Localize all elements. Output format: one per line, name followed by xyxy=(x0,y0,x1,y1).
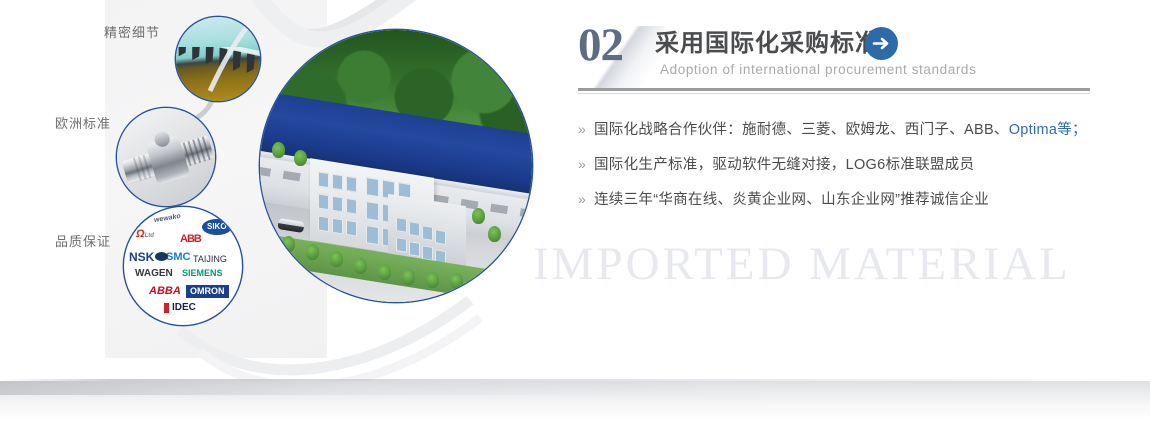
tree xyxy=(294,150,307,166)
section-subtitle: Adoption of international procurement st… xyxy=(660,62,976,77)
list-item: » 国际化战略合作伙伴：施耐德、三菱、欧姆龙、西门子、ABB、Optima等； xyxy=(578,118,1098,147)
watermark-text: IMPORTED MATERIAL xyxy=(533,237,1071,291)
tree xyxy=(472,208,485,224)
tree xyxy=(450,273,463,289)
tree xyxy=(354,258,367,274)
tree xyxy=(402,269,415,285)
tree xyxy=(426,272,439,288)
tree xyxy=(378,264,391,280)
page-stage: 精密细节 欧洲标准 品质保证 xyxy=(0,0,1150,430)
list-item-text: 连续三年“华商在线、炎黄企业网、山东企业网”推荐诚信企业 xyxy=(594,188,989,209)
list-item: » 连续三年“华商在线、炎黄企业网、山东企业网”推荐诚信企业 xyxy=(578,188,1098,217)
logo-smc: SMC xyxy=(166,252,190,263)
tree xyxy=(488,226,501,242)
list-item: » 国际化生产标准，驱动软件无缝对接，LOG6标准联盟成员 xyxy=(578,153,1098,182)
logo-smc-mark xyxy=(155,252,168,261)
list-item-text: 国际化战略合作伙伴：施耐德、三菱、欧姆龙、西门子、ABB、Optima等； xyxy=(594,118,1087,139)
tree xyxy=(306,244,319,260)
list-item-text-main: 连续三年“华商在线、炎黄企业网、山东企业网”推荐诚信企业 xyxy=(594,192,989,208)
label-precision-detail: 精密细节 xyxy=(104,22,160,41)
tree xyxy=(272,142,285,158)
title-divider-light xyxy=(578,93,1090,94)
logo-wagen: WAGEN xyxy=(135,269,173,279)
content-column: 02 采用国际化采购标准 Adoption of international p… xyxy=(578,0,1118,430)
logo-nsk: NSK xyxy=(129,251,154,263)
label-european-standard: 欧洲标准 xyxy=(55,113,111,132)
list-item-text-highlight: Optima等； xyxy=(1009,122,1087,138)
feature-list: » 国际化战略合作伙伴：施耐德、三菱、欧姆龙、西门子、ABB、Optima等； … xyxy=(578,118,1098,223)
gear-detail-photo xyxy=(176,17,260,101)
arrow-right-circle-icon[interactable] xyxy=(865,27,898,60)
logo-taijing: TAIJING xyxy=(193,255,227,264)
bullet-marker-icon: » xyxy=(578,121,594,137)
logo-omron: OMRON xyxy=(186,285,229,298)
logo-wewako: wewako xyxy=(154,213,182,224)
bullet-marker-icon: » xyxy=(578,156,594,172)
list-item-text-main: 国际化生产标准，驱动软件无缝对接，LOG6标准联盟成员 xyxy=(594,157,974,173)
tree xyxy=(330,251,343,267)
logo-siemens: SIEMENS xyxy=(182,269,223,278)
logo-omega: ΩLtd xyxy=(136,229,154,240)
bullet-marker-icon: » xyxy=(578,191,594,207)
brand-logo-cluster: wewako SIKO ΩLtd ABB NSK SMC TAIJING WAG… xyxy=(124,207,242,325)
logo-abba: ABBA xyxy=(149,286,181,297)
title-divider xyxy=(578,88,1090,91)
list-item-text-main: 国际化战略合作伙伴：施耐德、三菱、欧姆龙、西门子、ABB、 xyxy=(594,122,1009,138)
gear-probe-icon xyxy=(176,17,260,101)
list-item-text: 国际化生产标准，驱动软件无缝对接，LOG6标准联盟成员 xyxy=(594,153,974,174)
tree xyxy=(282,236,295,252)
logo-idec: IDEC xyxy=(164,303,196,313)
section-number: 02 xyxy=(578,22,623,69)
factory-photo xyxy=(260,30,532,302)
ball-screw-photo xyxy=(117,108,215,206)
section-title: 采用国际化采购标准 xyxy=(655,23,880,58)
logo-abb: ABB xyxy=(180,234,201,245)
label-quality-assurance: 品质保证 xyxy=(55,231,111,250)
bottom-gradient-band xyxy=(0,381,1150,417)
logo-siko: SIKO xyxy=(202,219,232,235)
